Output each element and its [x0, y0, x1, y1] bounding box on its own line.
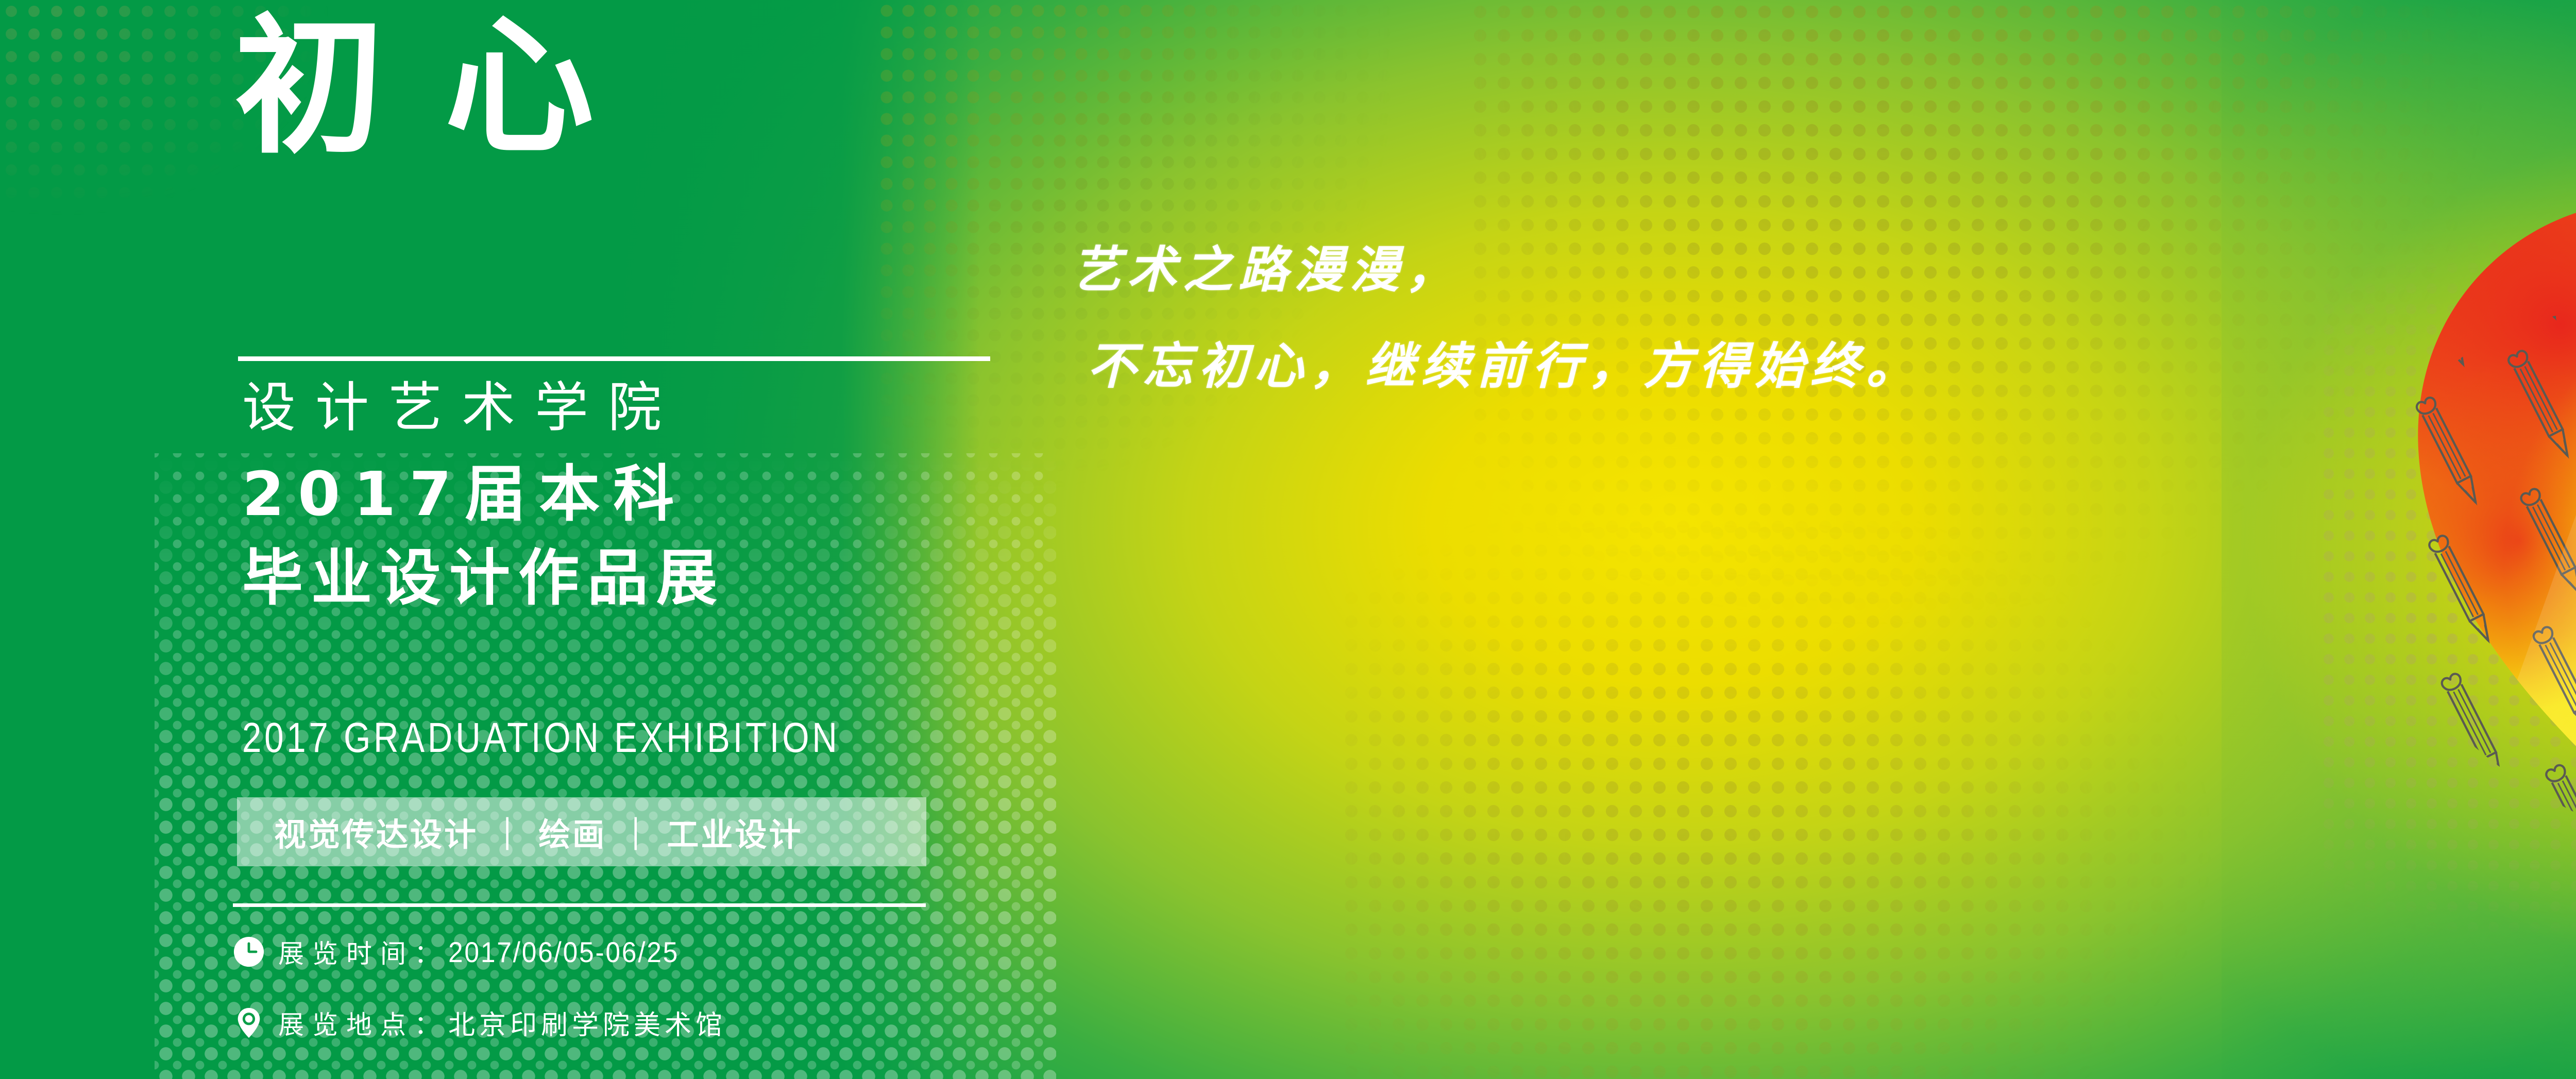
year-line: 2017届本科	[242, 461, 687, 528]
quote-line-1: 艺术之路漫漫，	[1072, 241, 1461, 299]
exhibition-place-label: 展览地点：	[278, 1004, 448, 1041]
exhibition-name-line: 毕业设计作品展	[242, 545, 725, 612]
exhibition-place-value: 北京印刷学院美术馆	[448, 1003, 726, 1042]
heart-graphic	[2391, 170, 2576, 1004]
left-text-column: 初心 设计艺术学院 2017届本科 毕业设计作品展 2017 GRADUATIO…	[0, 0, 1056, 1079]
calligraphy-quote: 艺术之路漫漫， 不忘初心，继续前行，方得始终。	[1072, 221, 1922, 414]
school-name-line: 设计艺术学院	[242, 376, 681, 439]
english-subtitle: 2017 GRADUATION EXHIBITION	[242, 717, 840, 759]
majors-pill: 视觉传达设计 ｜ 绘画 ｜ 工业设计	[237, 797, 926, 866]
majors-pill-label: 视觉传达设计 ｜ 绘画 ｜ 工业设计	[237, 809, 803, 855]
clock-icon	[233, 936, 265, 968]
exhibition-poster: 初心 设计艺术学院 2017届本科 毕业设计作品展 2017 GRADUATIO…	[0, 0, 2576, 1079]
info-divider-rule	[233, 903, 926, 907]
quote-line-2: 不忘初心，继续前行，方得始终。	[1072, 318, 1922, 414]
title-divider-rule	[238, 356, 990, 361]
pencil-heart-illustration	[2391, 170, 2576, 1004]
page-title: 初心	[234, 13, 956, 162]
exhibition-place-row: 展览地点： 北京印刷学院美术馆	[233, 1003, 726, 1042]
exhibition-time-row: 展览时间： 2017/06/05-06/25	[233, 933, 699, 970]
exhibition-time-label: 展览时间：	[278, 933, 448, 970]
exhibition-time-value: 2017/06/05-06/25	[448, 935, 679, 969]
map-pin-icon	[233, 1007, 265, 1039]
